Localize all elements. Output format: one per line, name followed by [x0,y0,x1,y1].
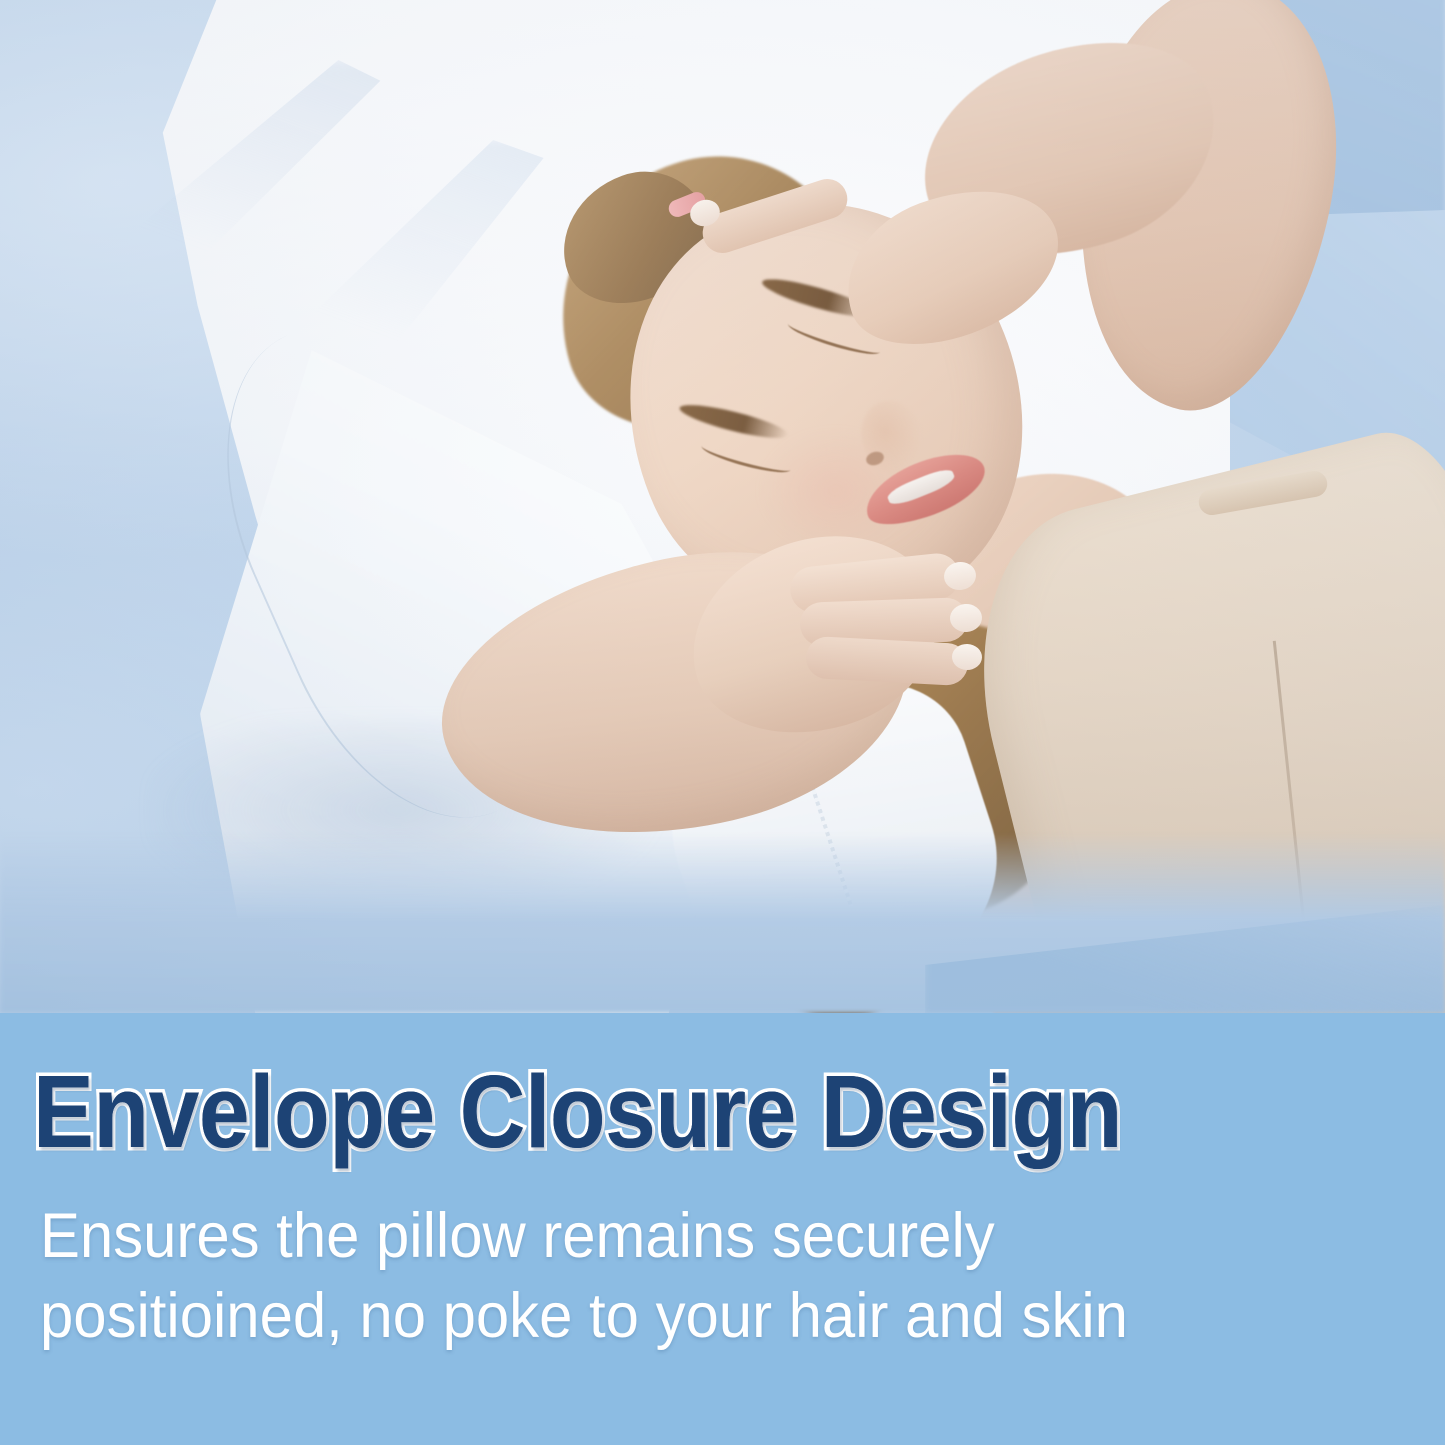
subhead: Ensures the pillow remains securely posi… [40,1196,1313,1356]
subhead-line-1: Ensures the pillow remains securely [40,1196,1313,1276]
lifestyle-photo [0,0,1445,1013]
finger-3 [805,636,969,686]
subhead-line-2: positioined, no poke to your hair and sk… [40,1276,1313,1356]
product-feature-poster: Envelope Closure Design Envelope Closure… [0,0,1445,1445]
headline-outline: Envelope Closure Design [33,1060,1237,1163]
